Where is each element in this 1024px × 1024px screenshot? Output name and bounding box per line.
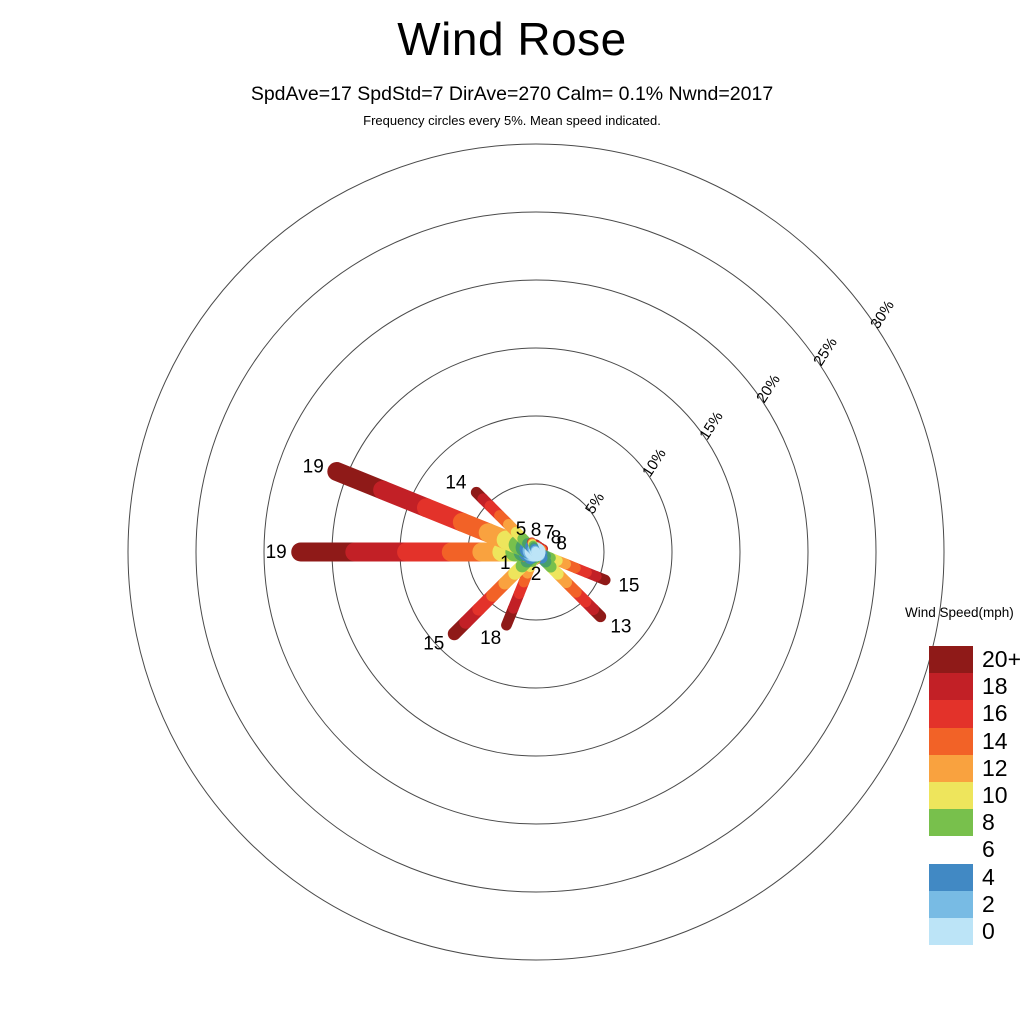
petal-mean-speed-label: 1: [500, 553, 511, 574]
legend-row: 20+: [929, 646, 1021, 673]
legend-color-swatch: [929, 700, 973, 727]
ring-label: 15%: [696, 409, 727, 443]
legend-row: 2: [929, 891, 1021, 918]
legend-color-swatch: [929, 836, 973, 863]
legend-label: 12: [982, 755, 1008, 782]
petal-mean-speed-label: 15: [423, 634, 444, 655]
ring-labels: 5%10%15%20%25%30%: [582, 298, 898, 518]
chart-stats-line: SpdAve=17 SpdStd=7 DirAve=270 Calm= 0.1%…: [0, 83, 1024, 106]
ring-label: 5%: [582, 490, 608, 517]
petal-mean-speed-label: 13: [610, 616, 631, 637]
legend-label: 14: [982, 728, 1008, 755]
legend-row: 18: [929, 673, 1021, 700]
legend-row: 4: [929, 864, 1021, 891]
petal-mean-speed-label: 19: [266, 542, 287, 563]
legend-row: 6: [929, 836, 1021, 863]
petal-mean-speed-label: 2: [531, 564, 542, 585]
legend-color-swatch: [929, 782, 973, 809]
legend-swatches: 20+181614121086420: [929, 646, 1021, 945]
petal-mean-speed-label: 8: [531, 520, 542, 541]
petal-mean-speed-label: 5: [516, 519, 527, 540]
petal-mean-speed-label: 18: [480, 628, 501, 649]
wind-rose-plot: 5%10%15%20%25%30% 878815132181511919145: [0, 0, 1024, 1024]
page-title: Wind Rose: [0, 12, 1024, 66]
ring-label: 10%: [639, 446, 670, 480]
legend-title: Wind Speed(mph): [905, 605, 1014, 620]
chart-note-line: Frequency circles every 5%. Mean speed i…: [0, 113, 1024, 128]
legend-color-swatch: [929, 755, 973, 782]
legend-color-swatch: [929, 646, 973, 673]
ring-label: 30%: [867, 298, 898, 332]
legend-row: 16: [929, 700, 1021, 727]
legend-label: 2: [982, 891, 995, 918]
legend-label: 18: [982, 673, 1008, 700]
legend-row: 8: [929, 809, 1021, 836]
petal-mean-speed-label: 15: [618, 575, 639, 596]
ring-label: 25%: [810, 335, 841, 369]
legend-row: 14: [929, 728, 1021, 755]
legend-color-swatch: [929, 891, 973, 918]
legend-label: 16: [982, 700, 1008, 727]
legend-label: 6: [982, 836, 995, 863]
legend-color-swatch: [929, 864, 973, 891]
petal-mean-speed-label: 8: [556, 533, 567, 554]
legend-label: 10: [982, 782, 1008, 809]
petal-mean-speed-label: 19: [303, 456, 324, 477]
legend-row: 12: [929, 755, 1021, 782]
legend-label: 4: [982, 864, 995, 891]
legend-label: 0: [982, 918, 995, 945]
legend-color-swatch: [929, 918, 973, 945]
legend-color-swatch: [929, 673, 973, 700]
legend-row: 10: [929, 782, 1021, 809]
legend-row: 0: [929, 918, 1021, 945]
wind-rose-figure: Wind Rose SpdAve=17 SpdStd=7 DirAve=270 …: [0, 0, 1024, 1024]
legend-color-swatch: [929, 728, 973, 755]
legend-label: 20+: [982, 646, 1021, 673]
legend-color-swatch: [929, 809, 973, 836]
petal-mean-speed-label: 14: [445, 472, 467, 493]
ring-label: 20%: [753, 372, 784, 406]
legend-label: 8: [982, 809, 995, 836]
